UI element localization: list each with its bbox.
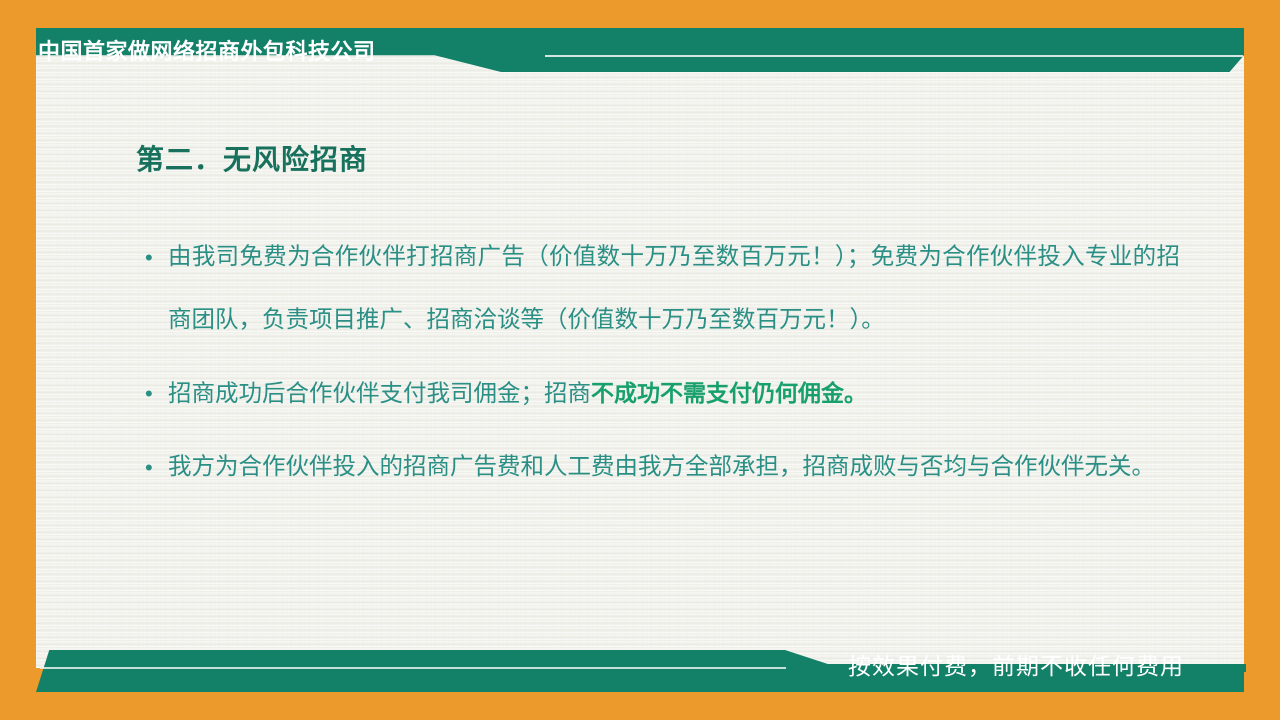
bullet-marker-icon: • xyxy=(145,436,155,499)
slide-canvas: 中国首家做网络招商外包科技公司 第二．无风险招商 • 由我司免费为合作伙伴打招商… xyxy=(0,0,1280,720)
bullet-1-lead: 由我司免费为合作伙伴打招商广告（价值数十万乃至数百万元！）；免费为合作伙伴投入专… xyxy=(168,244,1180,333)
bullet-item-2: • 招商成功后合作伙伴支付我司佣金；招商不成功不需支付仍何佣金。 xyxy=(140,362,1180,426)
bullet-2-emphasis: 不成功不需支付仍何佣金。 xyxy=(591,380,867,406)
bullet-2-lead: 招商成功后合作伙伴支付我司佣金；招商 xyxy=(168,381,591,407)
bullet-item-1: • 由我司免费为合作伙伴打招商广告（价值数十万乃至数百万元！）；免费为合作伙伴投… xyxy=(140,226,1180,352)
bullet-marker-icon: • xyxy=(145,362,155,425)
bullet-item-1-text: 由我司免费为合作伙伴打招商广告（价值数十万乃至数百万元！）；免费为合作伙伴投入专… xyxy=(168,226,1180,352)
bullet-item-3: • 我方为合作伙伴投入的招商广告费和人工费由我方全部承担，招商成败与否均与合作伙… xyxy=(140,436,1180,499)
footer-tagline: 按效果付费，前期不收任何费用 xyxy=(848,648,1184,684)
section-title: 第二．无风险招商 xyxy=(136,138,368,178)
bullet-item-2-text: 招商成功后合作伙伴支付我司佣金；招商不成功不需支付仍何佣金。 xyxy=(168,362,1180,426)
company-header-title: 中国首家做网络招商外包科技公司 xyxy=(38,36,538,70)
bullet-marker-icon: • xyxy=(145,226,155,289)
bullet-3-lead: 我方为合作伙伴投入的招商广告费和人工费由我方全部承担，招商成败与否均与合作伙伴无… xyxy=(168,454,1155,480)
header-divider-line xyxy=(545,55,1243,57)
bullet-list: • 由我司免费为合作伙伴打招商广告（价值数十万乃至数百万元！）；免费为合作伙伴投… xyxy=(140,226,1180,509)
bullet-item-3-text: 我方为合作伙伴投入的招商广告费和人工费由我方全部承担，招商成败与否均与合作伙伴无… xyxy=(168,436,1180,499)
